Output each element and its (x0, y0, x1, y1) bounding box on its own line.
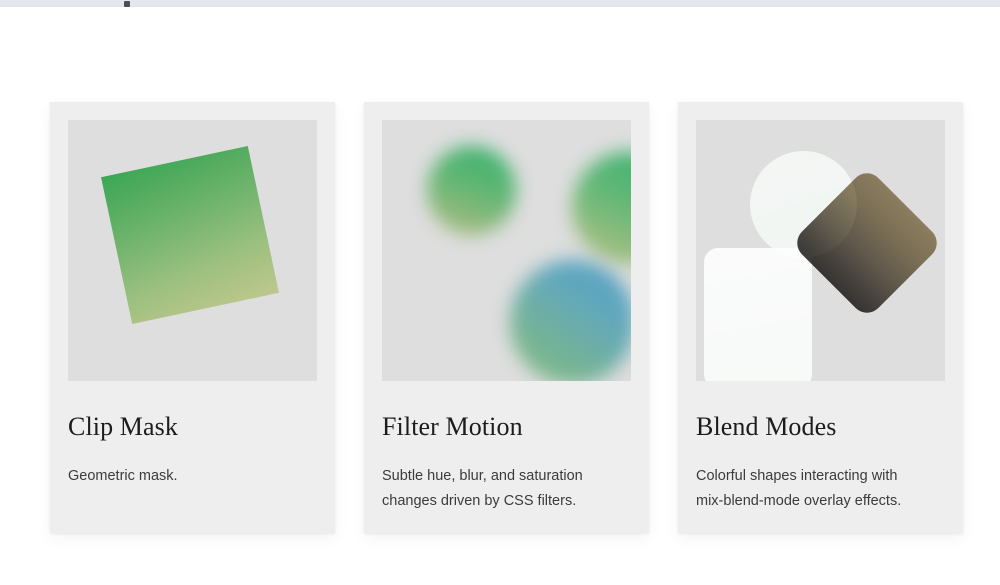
blurred-circle-bottom-center-shape (510, 260, 631, 381)
card-filter-motion-title: Filter Motion (382, 413, 631, 442)
blurred-circle-top-right-shape (572, 152, 631, 264)
card-filter-motion-description: Subtle hue, blur, and saturation changes… (382, 464, 614, 515)
top-strip-marker-icon (124, 1, 130, 7)
card-filter-motion[interactable]: Filter Motion Subtle hue, blur, and satu… (364, 102, 649, 533)
card-clip-mask-media (68, 120, 317, 381)
card-blend-modes-media (696, 120, 945, 381)
card-blend-modes-title: Blend Modes (696, 413, 945, 442)
blurred-circle-top-left-shape (427, 146, 516, 235)
rotated-gradient-square-shape (101, 146, 279, 324)
overlay-rounded-square-shape (704, 248, 812, 381)
card-clip-mask-description: Geometric mask. (68, 464, 300, 490)
card-blend-modes[interactable]: Blend Modes Colorful shapes interacting … (678, 102, 963, 533)
card-blend-modes-description: Colorful shapes interacting with mix-ble… (696, 464, 928, 515)
card-grid: Clip Mask Geometric mask. Filter Motion … (50, 102, 963, 533)
card-clip-mask-title: Clip Mask (68, 413, 317, 442)
card-clip-mask[interactable]: Clip Mask Geometric mask. (50, 102, 335, 533)
top-chrome-strip (0, 0, 1000, 7)
card-filter-motion-media (382, 120, 631, 381)
